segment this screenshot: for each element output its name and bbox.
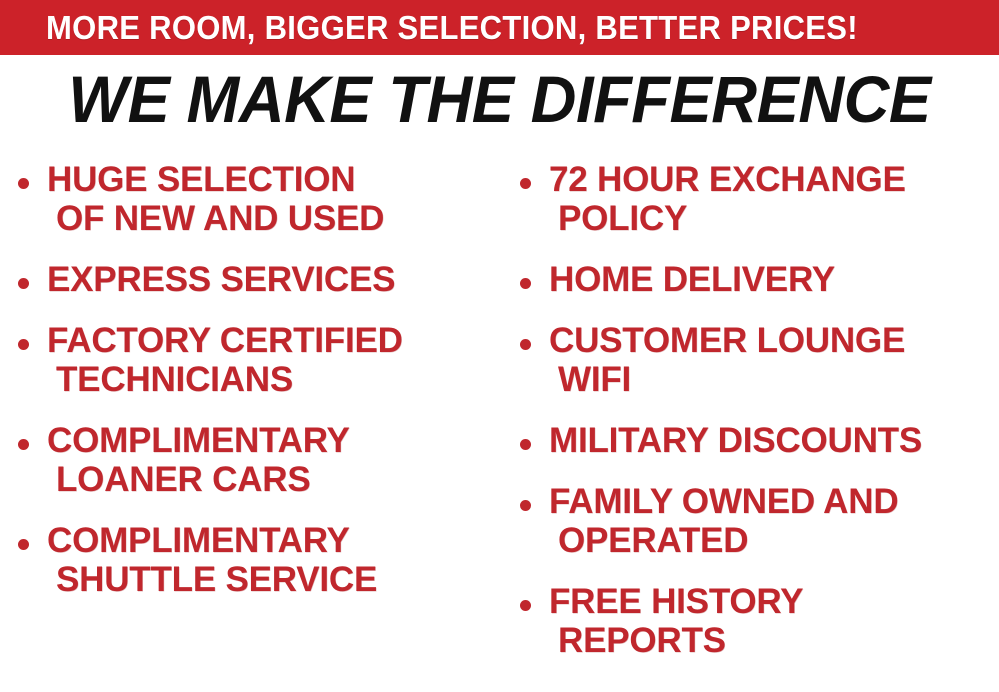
bullet-dot-icon bbox=[520, 178, 531, 189]
list-item-text: FREE HISTORY REPORTS bbox=[549, 582, 999, 660]
list-item-line-2: TECHNICIANS bbox=[47, 360, 505, 399]
list-item-line-1: EXPRESS SERVICES bbox=[47, 260, 395, 299]
bullet-dot-icon bbox=[18, 178, 29, 189]
list-item-text: EXPRESS SERVICES bbox=[47, 260, 505, 299]
top-banner: MORE ROOM, BIGGER SELECTION, BETTER PRIC… bbox=[0, 0, 999, 55]
list-item-text: CUSTOMER LOUNGE WIFI bbox=[549, 321, 999, 399]
list-item: COMPLIMENTARY SHUTTLE SERVICE bbox=[18, 521, 505, 599]
list-item-text: 72 HOUR EXCHANGE POLICY bbox=[549, 160, 999, 238]
list-item-line-1: 72 HOUR EXCHANGE bbox=[549, 160, 906, 199]
bullet-dot-icon bbox=[18, 278, 29, 289]
list-item-line-2: REPORTS bbox=[549, 621, 999, 660]
list-item: COMPLIMENTARY LOANER CARS bbox=[18, 421, 505, 499]
bullet-dot-icon bbox=[18, 539, 29, 550]
list-item-line-2: WIFI bbox=[549, 360, 999, 399]
benefits-column-right: 72 HOUR EXCHANGE POLICY HOME DELIVERY CU… bbox=[505, 160, 999, 682]
bullet-dot-icon bbox=[18, 339, 29, 350]
list-item-line-1: HOME DELIVERY bbox=[549, 260, 835, 299]
list-item-line-1: FACTORY CERTIFIED bbox=[47, 321, 403, 360]
bullet-dot-icon bbox=[520, 500, 531, 511]
list-item-line-1: FAMILY OWNED AND bbox=[549, 482, 898, 521]
bullet-dot-icon bbox=[520, 339, 531, 350]
list-item-line-1: MILITARY DISCOUNTS bbox=[549, 421, 922, 460]
list-item-line-1: COMPLIMENTARY bbox=[47, 521, 350, 560]
list-item: MILITARY DISCOUNTS bbox=[520, 421, 999, 460]
list-item-line-2: POLICY bbox=[549, 199, 999, 238]
page-title: WE MAKE THE DIFFERENCE bbox=[20, 64, 979, 134]
list-item: FREE HISTORY REPORTS bbox=[520, 582, 999, 660]
list-item-line-1: CUSTOMER LOUNGE bbox=[549, 321, 905, 360]
list-item-text: HUGE SELECTION OF NEW AND USED bbox=[47, 160, 505, 238]
list-item: HOME DELIVERY bbox=[520, 260, 999, 299]
list-item-line-2: OPERATED bbox=[549, 521, 999, 560]
list-item-line-1: HUGE SELECTION bbox=[47, 160, 355, 199]
list-item-text: MILITARY DISCOUNTS bbox=[549, 421, 999, 460]
list-item: EXPRESS SERVICES bbox=[18, 260, 505, 299]
list-item: HUGE SELECTION OF NEW AND USED bbox=[18, 160, 505, 238]
list-item-line-2: OF NEW AND USED bbox=[47, 199, 505, 238]
benefits-columns: HUGE SELECTION OF NEW AND USED EXPRESS S… bbox=[0, 160, 999, 692]
list-item-line-2: SHUTTLE SERVICE bbox=[47, 560, 505, 599]
list-item-text: FACTORY CERTIFIED TECHNICIANS bbox=[47, 321, 505, 399]
list-item-text: FAMILY OWNED AND OPERATED bbox=[549, 482, 999, 560]
list-item-text: HOME DELIVERY bbox=[549, 260, 999, 299]
banner-headline-text: MORE ROOM, BIGGER SELECTION, BETTER PRIC… bbox=[0, 11, 858, 44]
promo-poster: MORE ROOM, BIGGER SELECTION, BETTER PRIC… bbox=[0, 0, 999, 692]
list-item-text: COMPLIMENTARY LOANER CARS bbox=[47, 421, 505, 499]
list-item: CUSTOMER LOUNGE WIFI bbox=[520, 321, 999, 399]
list-item-line-1: FREE HISTORY bbox=[549, 582, 803, 621]
list-item: FAMILY OWNED AND OPERATED bbox=[520, 482, 999, 560]
benefits-column-left: HUGE SELECTION OF NEW AND USED EXPRESS S… bbox=[0, 160, 505, 621]
list-item: 72 HOUR EXCHANGE POLICY bbox=[520, 160, 999, 238]
list-item-text: COMPLIMENTARY SHUTTLE SERVICE bbox=[47, 521, 505, 599]
list-item: FACTORY CERTIFIED TECHNICIANS bbox=[18, 321, 505, 399]
bullet-dot-icon bbox=[520, 600, 531, 611]
bullet-dot-icon bbox=[520, 278, 531, 289]
list-item-line-1: COMPLIMENTARY bbox=[47, 421, 350, 460]
bullet-dot-icon bbox=[18, 439, 29, 450]
list-item-line-2: LOANER CARS bbox=[47, 460, 505, 499]
bullet-dot-icon bbox=[520, 439, 531, 450]
